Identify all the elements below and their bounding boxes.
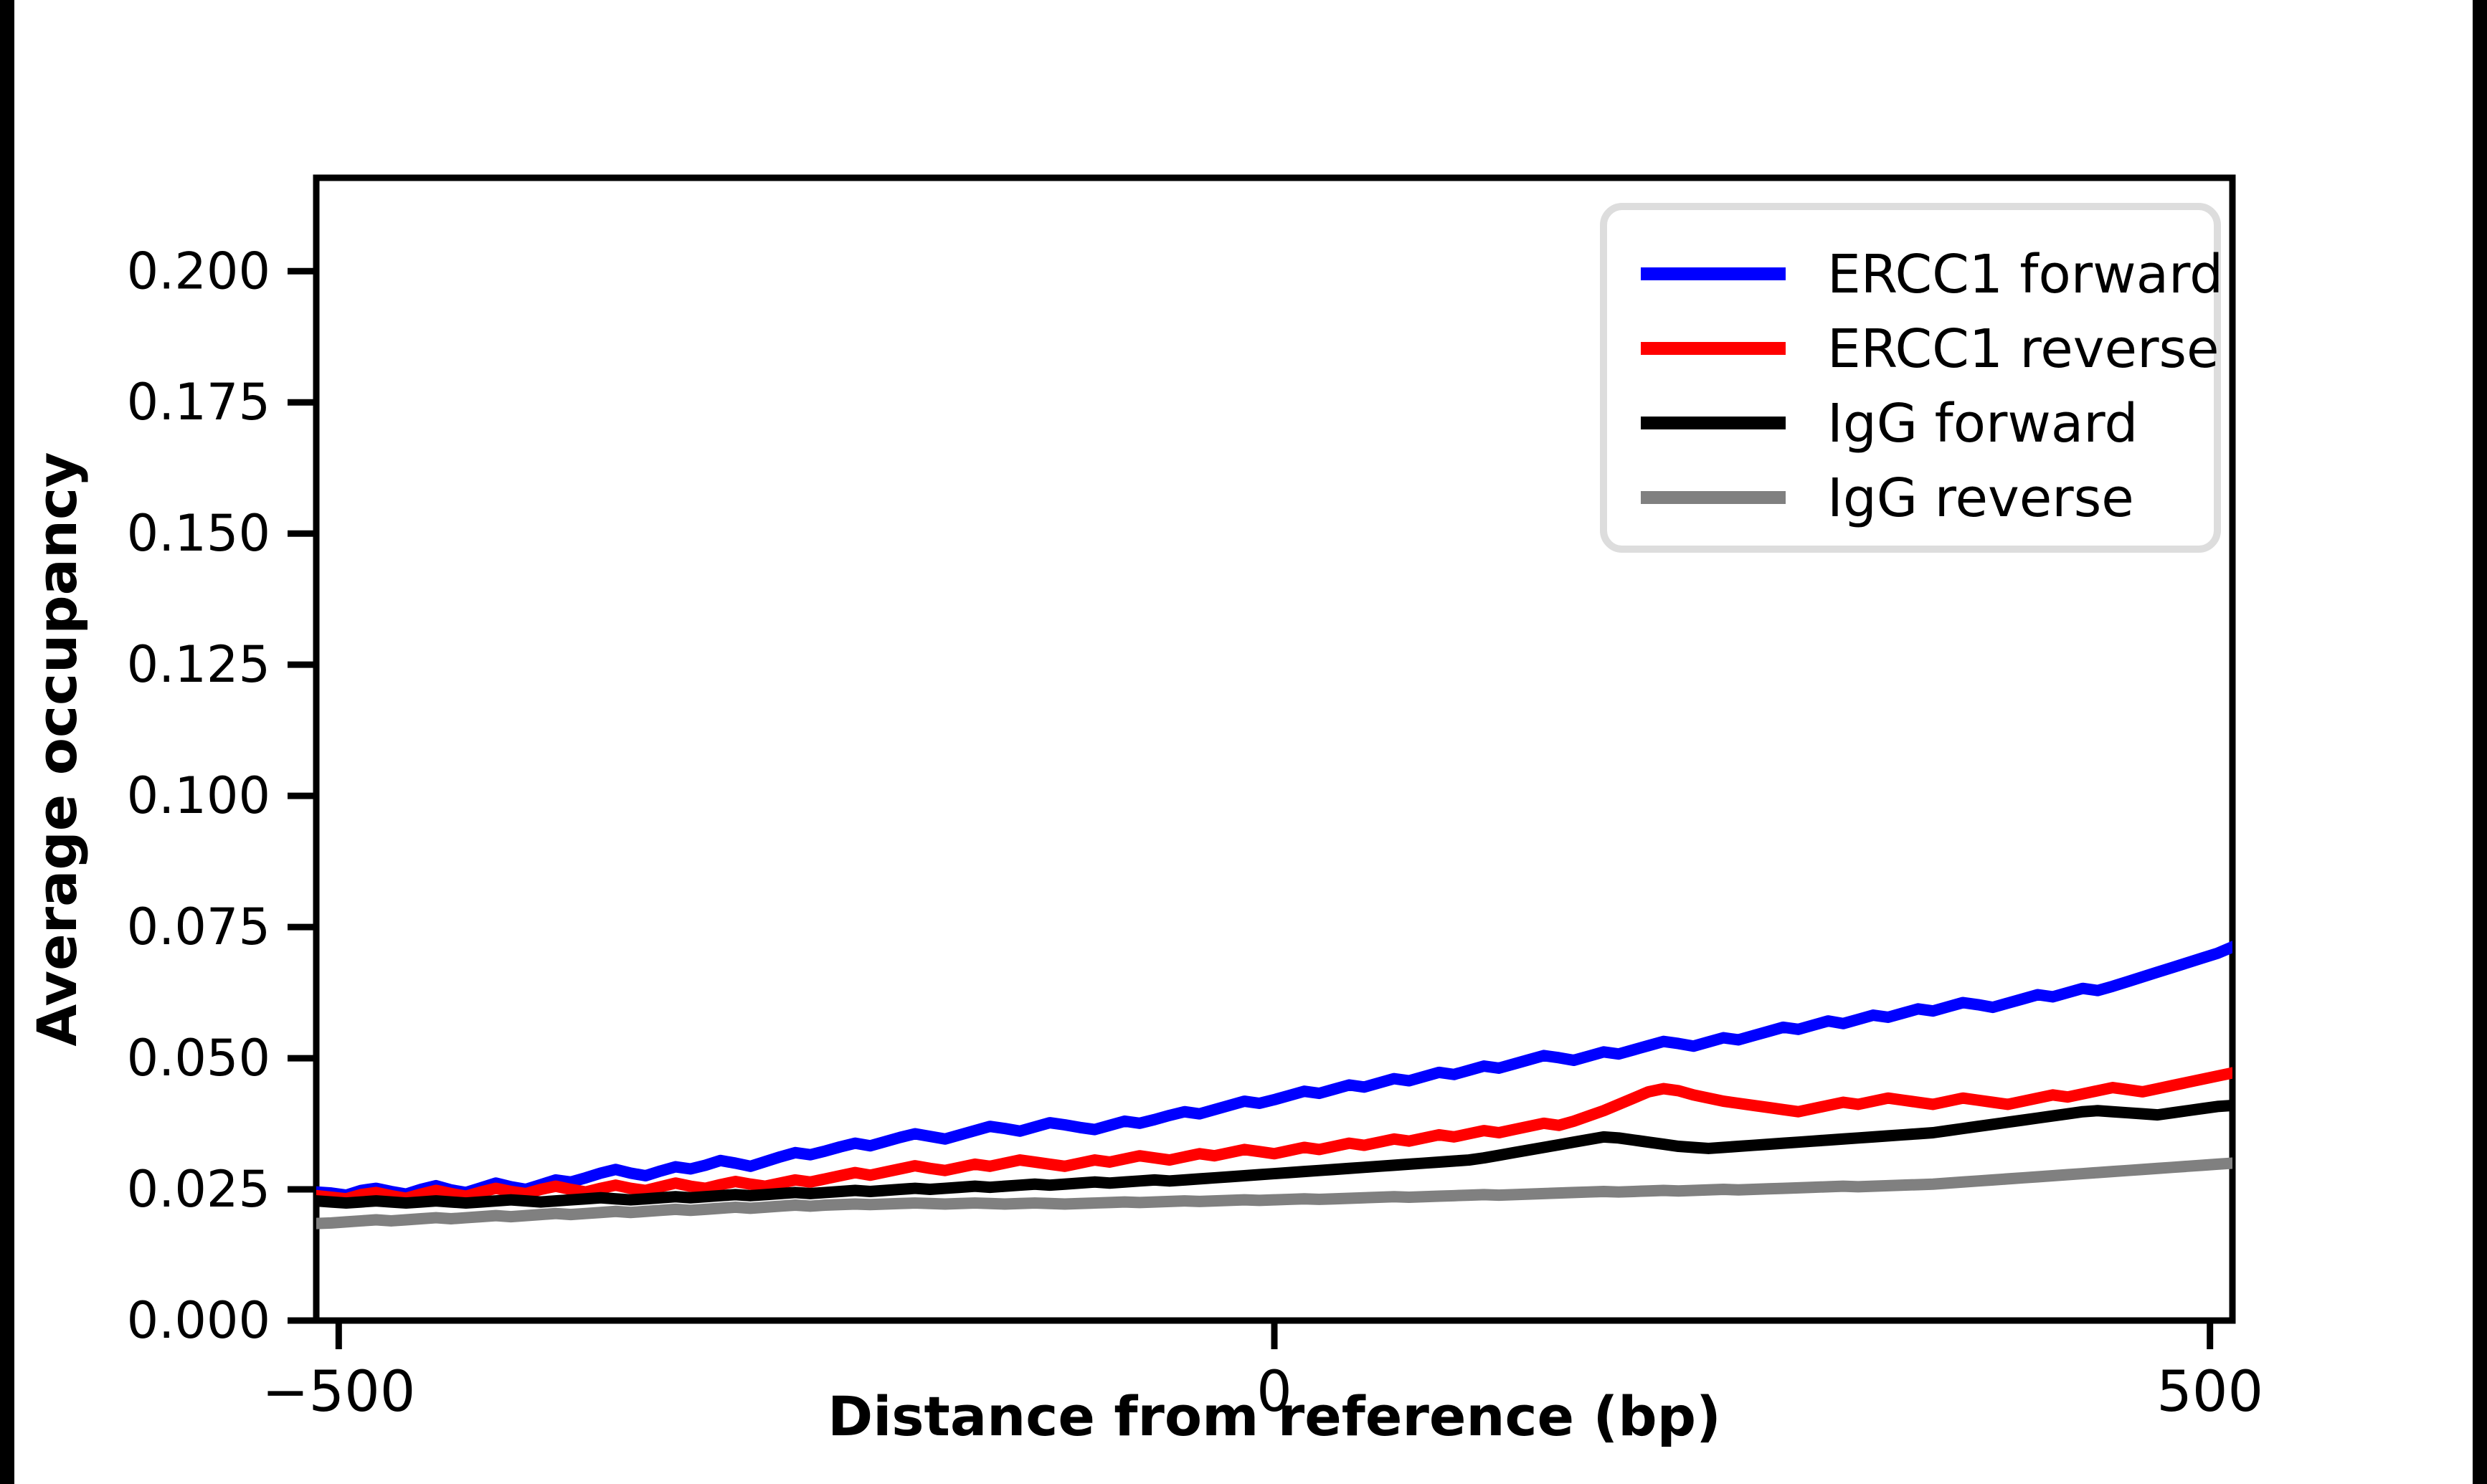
y-tick-label: 0.025 (127, 1160, 270, 1219)
y-axis-ticks (288, 271, 316, 1321)
legend-label-2: IgG forward (1827, 393, 2138, 455)
legend-label-1: ERCC1 reverse (1827, 318, 2220, 380)
legend: ERCC1 forwardERCC1 reverseIgG forwardIgG… (1603, 206, 2223, 549)
legend-label-3: IgG reverse (1827, 467, 2134, 529)
y-tick-label: 0.100 (127, 766, 270, 825)
y-tick-label: 0.125 (127, 635, 270, 694)
y-tick-label: 0.075 (127, 898, 270, 956)
y-tick-label: 0.050 (127, 1029, 270, 1088)
x-tick-label: 500 (2156, 1360, 2263, 1424)
x-tick-label: −500 (262, 1360, 415, 1424)
y-tick-label: 0.200 (127, 242, 270, 300)
y-tick-label: 0.175 (127, 373, 270, 432)
y-axis-title: Average occupancy (25, 452, 89, 1046)
line-chart: 0.0000.0250.0500.0750.1000.1250.1500.175… (14, 0, 2473, 1484)
x-axis-ticks (338, 1321, 2209, 1349)
y-tick-label: 0.000 (127, 1291, 270, 1350)
y-axis-tick-labels: 0.0000.0250.0500.0750.1000.1250.1500.175… (127, 242, 270, 1350)
y-tick-label: 0.150 (127, 504, 270, 563)
x-axis-title: Distance from reference (bp) (828, 1384, 1721, 1448)
figure-canvas: 0.0000.0250.0500.0750.1000.1250.1500.175… (14, 0, 2473, 1484)
legend-label-0: ERCC1 forward (1827, 244, 2223, 305)
figure-root: 0.0000.0250.0500.0750.1000.1250.1500.175… (0, 0, 2487, 1484)
